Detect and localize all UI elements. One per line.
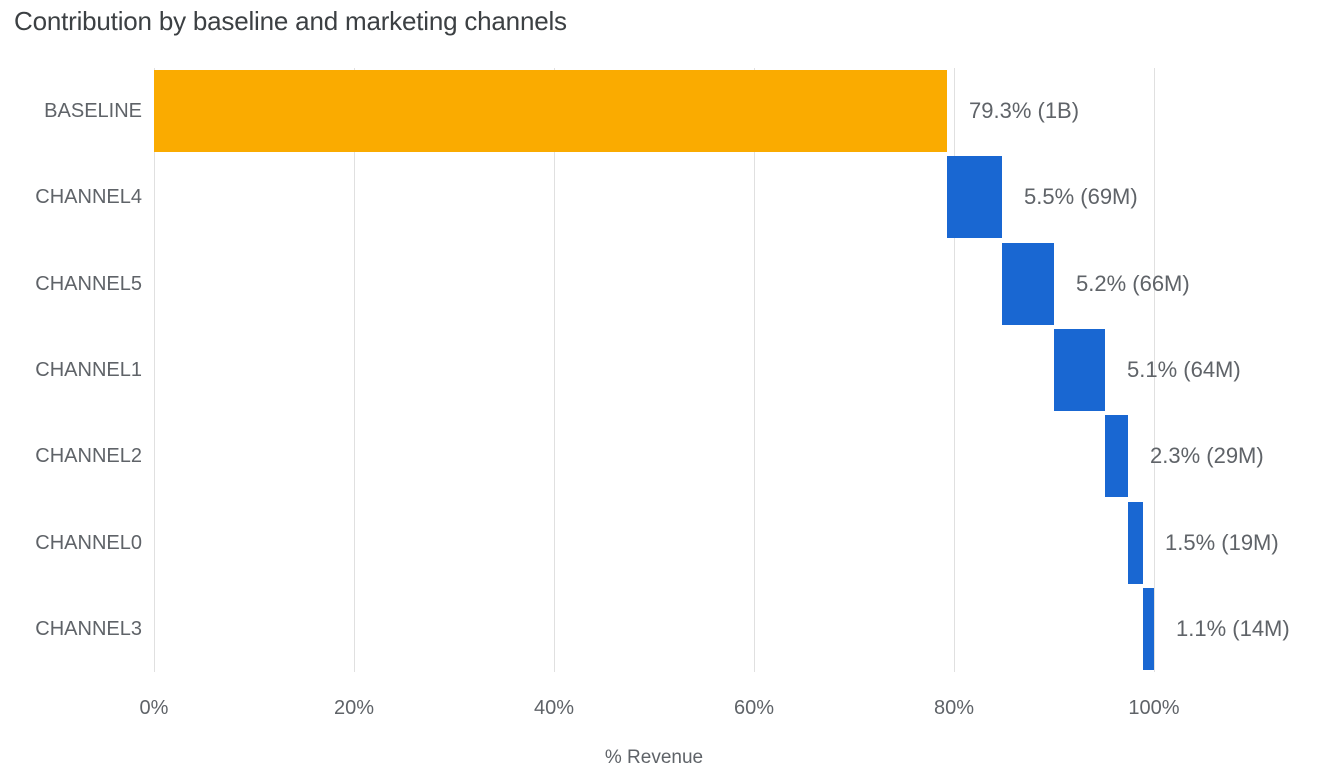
bar-channel0[interactable] [1128, 502, 1143, 584]
bar-channel5[interactable] [1002, 243, 1054, 325]
y-axis-label-baseline: BASELINE [44, 101, 142, 121]
y-axis-label-channel0: CHANNEL0 [35, 533, 142, 553]
x-tick-40pct: 40% [534, 698, 574, 718]
x-tick-100pct: 100% [1128, 698, 1179, 718]
y-axis-label-channel3: CHANNEL3 [35, 619, 142, 639]
x-axis-title: % Revenue [605, 748, 703, 767]
data-label-baseline: 79.3% (1B) [969, 100, 1079, 122]
x-tick-80pct: 80% [934, 698, 974, 718]
y-axis-label-channel1: CHANNEL1 [35, 360, 142, 380]
plot-area [154, 68, 1154, 672]
data-label-channel3: 1.1% (14M) [1176, 618, 1290, 640]
data-label-channel1: 5.1% (64M) [1127, 359, 1241, 381]
bar-channel1[interactable] [1054, 329, 1105, 411]
y-axis-label-channel4: CHANNEL4 [35, 187, 142, 207]
bar-channel3[interactable] [1143, 588, 1154, 670]
y-axis-label-channel2: CHANNEL2 [35, 446, 142, 466]
bar-baseline[interactable] [154, 70, 947, 152]
x-tick-60pct: 60% [734, 698, 774, 718]
data-label-channel0: 1.5% (19M) [1165, 532, 1279, 554]
data-label-channel2: 2.3% (29M) [1150, 445, 1264, 467]
bar-channel4[interactable] [947, 156, 1002, 238]
data-label-channel4: 5.5% (69M) [1024, 186, 1138, 208]
gridline-0pct [154, 68, 155, 672]
data-label-channel5: 5.2% (66M) [1076, 273, 1190, 295]
waterfall-chart: Contribution by baseline and marketing c… [0, 0, 1330, 781]
gridline-40pct [554, 68, 555, 672]
bar-channel2[interactable] [1105, 415, 1128, 497]
x-tick-20pct: 20% [334, 698, 374, 718]
x-tick-0pct: 0% [140, 698, 169, 718]
gridline-20pct [354, 68, 355, 672]
y-axis-label-channel5: CHANNEL5 [35, 274, 142, 294]
chart-title: Contribution by baseline and marketing c… [14, 6, 567, 37]
gridline-60pct [754, 68, 755, 672]
